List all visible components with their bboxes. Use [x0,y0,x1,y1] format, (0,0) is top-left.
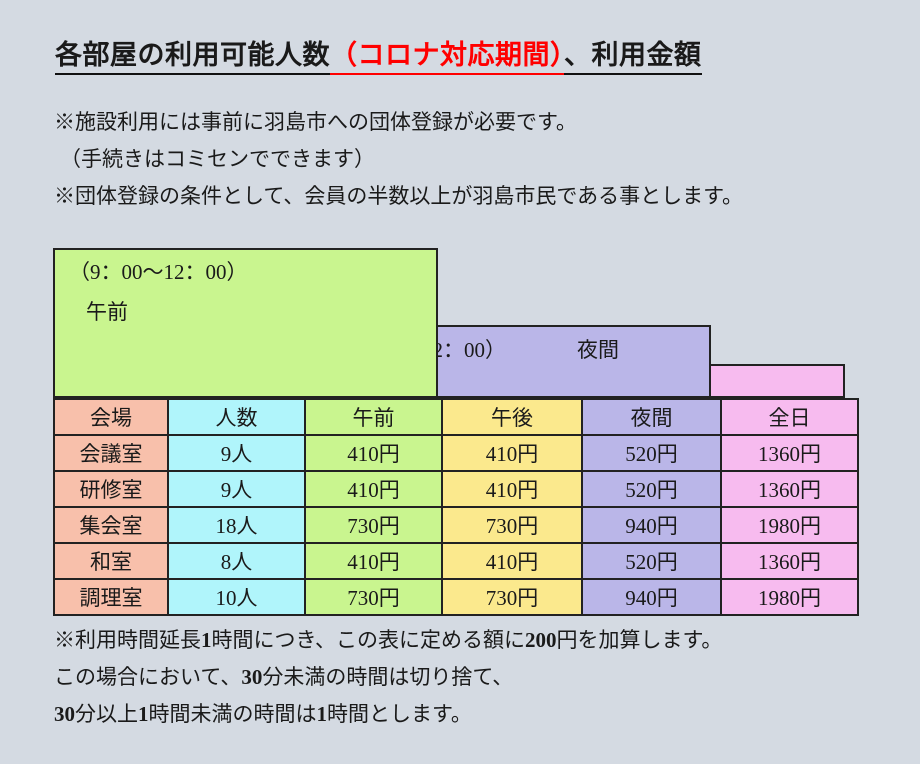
footnote-emphasis: 1 [138,702,149,726]
cell-afternoon: 410円 [442,471,582,507]
cell-capacity: 8人 [168,543,305,579]
footnote-emphasis: 1 [201,628,212,652]
footnote-text: 時間未満の時間は [149,702,317,726]
header-morning: 午前 [305,399,442,435]
time-block-morning: （9：00〜12：00） 午前 [53,248,438,398]
cell-afternoon: 410円 [442,543,582,579]
cell-allday: 1360円 [721,435,858,471]
cell-morning: 410円 [305,543,442,579]
footnote-line: 30分以上1時間未満の時間は1時間とします。 [54,696,722,733]
table-row: 研修室 9人 410円 410円 520円 1360円 [54,471,858,507]
rate-table: 会場 人数 午前 午後 夜間 全日 会議室 9人 410円 410円 520円 … [53,398,859,616]
cell-evening: 520円 [582,435,721,471]
cell-capacity: 9人 [168,435,305,471]
footnote-text: 分未満の時間は切り捨て、 [262,665,513,689]
footnote-line: ※利用時間延長1時間につき、この表に定める額に200円を加算します。 [54,622,722,659]
cell-venue: 会議室 [54,435,168,471]
footnotes: ※利用時間延長1時間につき、この表に定める額に200円を加算します。 この場合に… [54,622,722,733]
header-evening: 夜間 [582,399,721,435]
page-title-part2: 、利用金額 [564,40,702,75]
table-row: 会議室 9人 410円 410円 520円 1360円 [54,435,858,471]
rate-table-body: 会場 人数 午前 午後 夜間 全日 会議室 9人 410円 410円 520円 … [54,399,858,615]
footnote-text: 時間につき、この表に定める額に [212,628,526,652]
footnote-emphasis: 200 [525,628,557,652]
page-title-highlight: （コロナ対応期間） [330,40,564,75]
cell-allday: 1360円 [721,543,858,579]
cell-capacity: 18人 [168,507,305,543]
cell-venue: 調理室 [54,579,168,615]
time-block-evening-label-inline: 夜間 [577,334,619,364]
footnote-text: 円を加算します。 [557,628,723,652]
cell-allday: 1360円 [721,471,858,507]
intro-note-2: （手続きはコミセンでできます） [54,141,743,178]
footnote-line: この場合において、30分未満の時間は切り捨て、 [54,659,722,696]
intro-note-1: ※施設利用には事前に羽島市への団体登録が必要です。 [54,104,743,141]
intro-note-3: ※団体登録の条件として、会員の半数以上が羽島市民である事とします。 [54,178,743,215]
cell-afternoon: 730円 [442,579,582,615]
cell-capacity: 9人 [168,471,305,507]
cell-morning: 410円 [305,471,442,507]
table-row: 和室 8人 410円 410円 520円 1360円 [54,543,858,579]
cell-morning: 730円 [305,579,442,615]
table-header-row: 会場 人数 午前 午後 夜間 全日 [54,399,858,435]
footnote-text: ※利用時間延長 [54,628,201,652]
cell-venue: 和室 [54,543,168,579]
cell-evening: 940円 [582,579,721,615]
cell-evening: 520円 [582,543,721,579]
footnote-emphasis: 30 [241,665,262,689]
time-block-morning-label: 午前 [86,296,128,326]
cell-allday: 1980円 [721,579,858,615]
page-title-part1: 各部屋の利用可能人数 [55,40,330,75]
cell-evening: 520円 [582,471,721,507]
cell-afternoon: 410円 [442,435,582,471]
footnote-text: 時間とします。 [327,702,472,726]
footnote-text: この場合において、 [54,665,241,689]
table-row: 集会室 18人 730円 730円 940円 1980円 [54,507,858,543]
cell-afternoon: 730円 [442,507,582,543]
header-afternoon: 午後 [442,399,582,435]
cell-venue: 研修室 [54,471,168,507]
cell-venue: 集会室 [54,507,168,543]
cell-allday: 1980円 [721,507,858,543]
page-title: 各部屋の利用可能人数（コロナ対応期間）、利用金額 [55,33,702,72]
footnote-emphasis: 30 [54,702,75,726]
header-capacity: 人数 [168,399,305,435]
cell-morning: 730円 [305,507,442,543]
cell-capacity: 10人 [168,579,305,615]
cell-evening: 940円 [582,507,721,543]
time-block-morning-range: （9：00〜12：00） [69,256,248,286]
footnote-text: 分以上 [75,702,138,726]
footnote-emphasis: 1 [317,702,328,726]
header-venue: 会場 [54,399,168,435]
intro-notes: ※施設利用には事前に羽島市への団体登録が必要です。 （手続きはコミセンでできます… [54,104,743,215]
cell-morning: 410円 [305,435,442,471]
header-allday: 全日 [721,399,858,435]
table-row: 調理室 10人 730円 730円 940円 1980円 [54,579,858,615]
